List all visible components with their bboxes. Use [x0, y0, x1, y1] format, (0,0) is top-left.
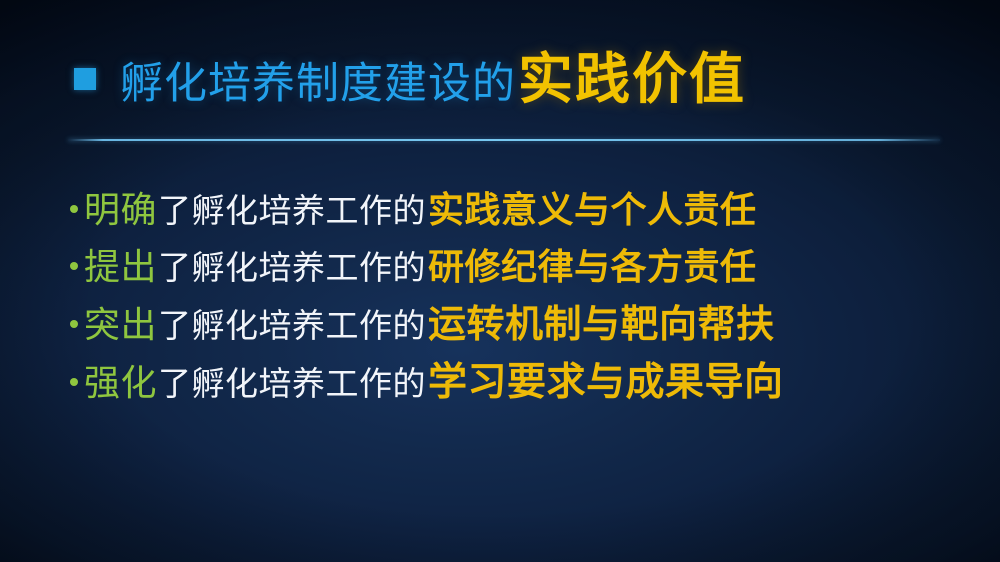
- bullet-middle-text: 了孵化培养工作的: [158, 309, 426, 342]
- bullet-dot-icon: [70, 320, 78, 328]
- title-accent-text: 实践价值: [518, 52, 746, 107]
- filled-square-icon: [74, 68, 96, 90]
- bullet-lead-text: 突出: [84, 307, 157, 343]
- bullet-accent-text: 实践意义与个人责任: [428, 192, 757, 228]
- title-divider: [68, 139, 940, 141]
- list-item: 明确 了孵化培养工作的 实践意义与个人责任: [70, 192, 930, 249]
- bullet-lead-text: 提出: [84, 249, 157, 285]
- presentation-slide: 孵化培养制度建设的 实践价值 明确 了孵化培养工作的 实践意义与个人责任 提出 …: [0, 0, 1000, 562]
- bullet-dot-icon: [70, 378, 78, 386]
- bullet-lead-text: 明确: [84, 192, 157, 228]
- bullet-lead-text: 强化: [84, 365, 157, 401]
- bullet-dot-icon: [70, 205, 78, 213]
- bullet-middle-text: 了孵化培养工作的: [158, 194, 426, 227]
- list-item: 突出 了孵化培养工作的 运转机制与靶向帮扶: [70, 306, 930, 363]
- list-item: 提出 了孵化培养工作的 研修纪律与各方责任: [70, 249, 930, 306]
- title-main-text: 孵化培养制度建设的: [120, 63, 516, 106]
- list-item: 强化 了孵化培养工作的 学习要求与成果导向: [70, 363, 930, 420]
- bullet-accent-text: 研修纪律与各方责任: [428, 249, 757, 285]
- bullet-list: 明确 了孵化培养工作的 实践意义与个人责任 提出 了孵化培养工作的 研修纪律与各…: [70, 192, 930, 420]
- bullet-middle-text: 了孵化培养工作的: [158, 367, 426, 400]
- bullet-dot-icon: [70, 262, 78, 270]
- bullet-middle-text: 了孵化培养工作的: [158, 251, 426, 284]
- bullet-accent-text: 运转机制与靶向帮扶: [428, 306, 775, 344]
- bullet-accent-text: 学习要求与成果导向: [428, 363, 784, 402]
- slide-title: 孵化培养制度建设的 实践价值: [74, 52, 746, 107]
